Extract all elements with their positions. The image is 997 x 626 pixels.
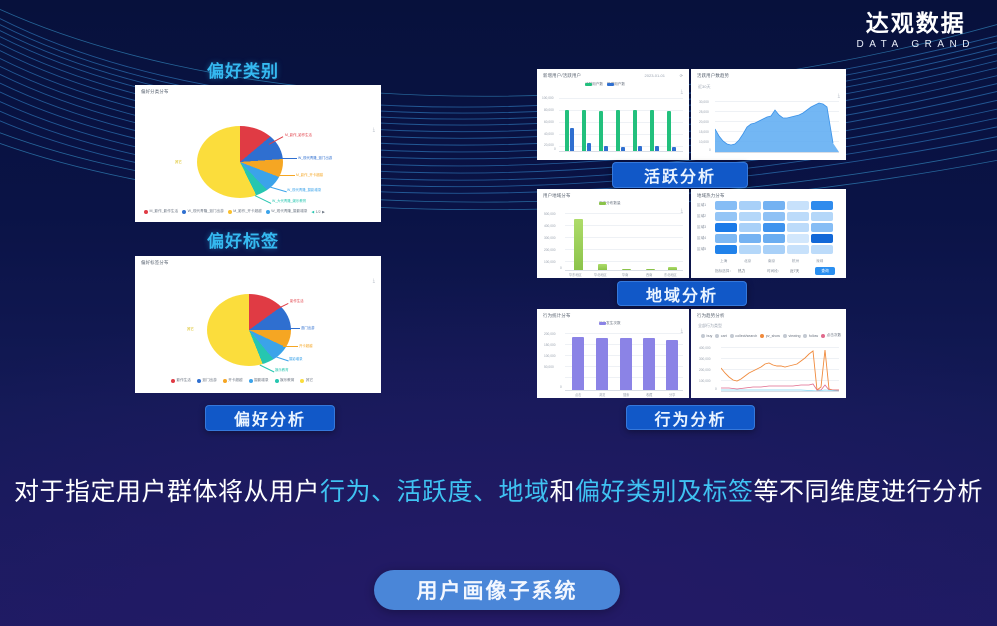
x-tick: 华东地区 [569,272,582,277]
panel-preference-category[interactable]: 偏好分类分布 ⤓ M_影作_影作生活 W_现代青隆_逛门出游 M_影作_开卡超越… [135,85,381,222]
legend-item: W_现代青隆_逛门出游 [182,209,224,214]
bottom-pill-user-profiling[interactable]: 用户画像子系统 [374,570,620,610]
legend-item: 逛门出游 [197,378,217,383]
bar [596,338,608,390]
panel-title: 偏好标签分布 [141,260,169,266]
y-tick: 200,000 [544,332,556,336]
legend-label: M_影作_开卡超越 [233,209,262,214]
pie-label-3: 摄影增录 [289,356,303,361]
heatmap-cell[interactable] [811,223,833,232]
y-tick: 200,000 [699,368,711,372]
panel-region-heatmap[interactable]: 地域热力分布 区域1 区域2 区域3 区域4 区域5 [691,189,846,278]
legend-swatch [144,210,148,214]
date-filter[interactable]: 2023-01-01 [645,73,665,78]
y-tick: 100,000 [542,96,554,100]
brand-name-cn: 达观数据 [856,10,975,36]
label-preference-category: 偏好类别 [207,57,279,82]
panel-title: 活跃用户数趋势 [697,73,729,79]
legend-swatch [249,379,253,383]
heatmap-cell[interactable] [811,245,833,254]
heatmap-filter-value-1[interactable]: 热力 [738,269,745,274]
legend-pager[interactable]: ◀1/2▶ [311,210,325,214]
legend-item: 影作生活 [171,378,191,383]
bar [650,110,654,151]
caption-part-3: 等不同维度进行分析 [754,478,984,506]
legend-label: pv_show [766,334,780,338]
heatmap-row-label: 区域4 [697,236,706,241]
panel-activity-bar[interactable]: 新增用户/活跃用户 2023-01-01 ⟳ 活跃用户数 新增用户数 ⤓ 100… [537,69,689,160]
legend-item: cart [715,334,727,338]
legend-item: buy [701,334,712,338]
legend-label: 开卡超越 [228,378,242,383]
y-tick: 40,000 [544,132,554,136]
heatmap-filter-value-2[interactable]: 近7天 [790,269,799,274]
bar [643,338,655,390]
y-tick: 300,000 [544,236,556,240]
legend-swatch [182,210,186,214]
bar [587,143,591,151]
caption-part-2: 和 [549,478,575,506]
type-filter[interactable]: 全部行为类型 [698,323,722,329]
legend-label: collect/search [735,334,757,338]
legend-label: W_现代青隆_摄影增录 [271,209,307,214]
legend-swatch [730,334,734,338]
leader-line [255,195,272,204]
y-tick: 20,000 [699,120,709,124]
legend-swatch [783,334,787,338]
y-tick: 80,000 [544,108,554,112]
leader-line [285,328,300,329]
legend-label: 影作生活 [177,378,191,383]
download-icon[interactable]: ⤓ [373,278,375,284]
legend-swatch [803,334,807,338]
chip-activity-analysis[interactable]: 活跃分析 [612,162,748,188]
pie-label-1: 逛门出游 [301,325,315,330]
legend-label: 点击次数 [827,333,841,338]
legend-label: 其它 [306,378,313,383]
x-tick: 分享 [669,392,675,397]
heatmap-cell[interactable] [811,201,833,210]
y-tick: 0 [709,148,711,152]
line-chart [721,343,839,391]
pie-label-1: W_现代青隆_逛门出游 [298,155,332,160]
legend-swatch [197,379,201,383]
y-tick: 100,000 [544,354,556,358]
heatmap-cell[interactable] [787,201,809,210]
y-tick: 100,000 [544,260,556,264]
leader-line [278,175,295,176]
chart-legend[interactable]: 活跃用户数 新增用户数 [585,82,625,87]
chart-legend[interactable]: 用户分布数量 [599,201,621,206]
legend-label: 娱乐教育 [280,378,294,383]
panel-title: 新增用户/活跃用户 [543,73,581,79]
pie-label-0: 影作生活 [290,298,304,303]
legend-item: 活跃用户数 [585,82,603,87]
x-tick: 点击 [575,392,581,397]
panel-preference-tag[interactable]: 偏好标签分布 ⤓ 影作生活 逛门出游 开卡超越 摄影增录 娱乐教育 其它 影作生… [135,256,381,393]
range-filter[interactable]: 近30天 [698,84,710,90]
legend-label: cart [721,334,727,338]
pie-label-4: W_大代青隆_娱乐教育 [272,198,306,203]
legend-label: W_现代青隆_逛门出游 [188,209,224,214]
heatmap-cell[interactable] [739,245,761,254]
y-tick: 400,000 [544,224,556,228]
query-button[interactable]: 查询 [815,267,835,275]
legend-label: M_影作_影作生活 [150,209,179,214]
chart-legend[interactable]: 影作生活 逛门出游 开卡超越 摄影增录 娱乐教育 其它 [171,378,313,383]
legend-swatch [585,83,592,86]
heatmap-grid[interactable] [715,201,833,254]
legend-swatch [300,379,304,383]
bar [565,110,569,151]
y-tick: 20,000 [544,143,554,147]
caption-part-1: 对于指定用户群体将从用户 [14,478,320,506]
pie-label-2: M_影作_开卡超越 [296,172,323,177]
legend-item: W_现代青隆_摄影增录 [266,209,308,214]
legend-label: viewing [788,334,800,338]
panel-activity-area[interactable]: 活跃用户数趋势 近30天 ⤓ 30,000 25,000 20,000 15,0… [691,69,846,160]
pie-label-5: 其它 [175,159,182,164]
x-tick: 东北地区 [664,272,677,277]
label-preference-tag: 偏好标签 [207,227,279,252]
legend-item: M_影作_影作生活 [144,209,178,214]
x-tick: 收藏 [646,392,652,397]
bar [570,128,574,151]
pie-label-5: 其它 [187,326,194,331]
y-tick: 15,000 [699,130,709,134]
y-tick: 0 [554,147,556,151]
legend-item: 开卡超越 [223,378,243,383]
legend-label: follow [809,334,818,338]
legend-item: follow [803,334,818,338]
panel-behavior-bar[interactable]: 行为统计分布 行为发生次数 ⤓ 200,000 150,000 100,000 … [537,309,689,398]
leader-line [260,365,275,373]
legend-item: 行为发生次数 [599,321,621,326]
heatmap-col-label: 北京 [744,259,751,264]
chip-behavior-analysis[interactable]: 行为分析 [626,405,755,430]
bar [582,110,586,151]
bar [666,340,678,390]
legend-swatch [760,334,764,338]
slide-canvas: 达观数据 DATA GRAND 偏好类别 偏好标签 偏好分类分布 ⤓ M_影作_… [0,0,997,626]
download-icon[interactable]: ⤓ [373,127,375,133]
heatmap-cell[interactable] [787,245,809,254]
heatmap-cell[interactable] [739,212,761,221]
y-tick: 30,000 [699,100,709,104]
bar [620,338,632,390]
heatmap-row-label: 区域3 [697,225,706,230]
pie-label-2: 开卡超越 [299,343,313,348]
pie-label-0: M_影作_影作生活 [285,132,312,137]
leader-line [283,346,298,347]
bar [572,337,584,390]
y-tick: 0 [715,387,717,391]
leader-line [270,187,287,193]
heatmap-cell[interactable] [787,234,809,243]
heatmap-cell[interactable] [787,212,809,221]
slide-caption: 对于指定用户群体将从用户行为、活跃度、地域和偏好类别及标签等不同维度进行分析 [0,474,997,510]
heatmap-cell[interactable] [811,234,833,243]
bar [667,111,671,151]
legend-item: M_影作_开卡超越 [228,209,262,214]
caption-highlight-2: 偏好类别及标签 [575,478,754,506]
heatmap-filter-label-1: 指标选择： [715,269,733,274]
y-tick: 500,000 [544,212,556,216]
panel-title: 偏好分类分布 [141,89,169,95]
heatmap-cell[interactable] [763,212,785,221]
heatmap-col-label: 深圳 [816,259,823,264]
x-tick: 华北地区 [594,272,607,277]
chart-legend[interactable]: 行为发生次数 [599,321,621,326]
heatmap-cell[interactable] [763,201,785,210]
heatmap-cell[interactable] [715,223,737,232]
pie-chart [207,294,291,366]
heatmap-filter-label-2: 时间段： [767,269,781,274]
y-tick: 60,000 [544,120,554,124]
heatmap-cell[interactable] [715,212,737,221]
caption-highlight-1: 行为、活跃度、地域 [320,478,550,506]
chart-legend[interactable]: buy cart collect/search pv_show viewing … [701,333,841,338]
pie-label-3: W_现代青隆_摄影增录 [287,187,321,192]
legend-label: 摄影增录 [254,378,268,383]
heatmap-cell[interactable] [763,223,785,232]
brand-logo: 达观数据 DATA GRAND [856,10,975,50]
panel-title: 行为统计分布 [543,313,571,319]
brand-name-en: DATA GRAND [856,39,975,50]
pie-label-4: 娱乐教育 [275,367,289,372]
legend-swatch [701,334,705,338]
leader-line [273,356,289,362]
heatmap-cell[interactable] [763,234,785,243]
legend-item: 摄影增录 [249,378,269,383]
heatmap-row-label: 区域5 [697,247,706,252]
heatmap-cell[interactable] [739,223,761,232]
legend-item: 用户分布数量 [599,201,621,206]
heatmap-cell[interactable] [739,234,761,243]
panel-title: 地域热力分布 [697,193,725,199]
x-tick: 华南 [622,272,628,277]
legend-label: buy [707,334,713,338]
x-tick: 搜索 [623,392,629,397]
chip-preference-analysis[interactable]: 偏好分析 [205,405,335,431]
refresh-icon[interactable]: ⟳ [680,73,683,78]
legend-swatch [171,379,175,383]
y-tick: 10,000 [699,140,709,144]
legend-swatch [266,210,270,214]
bar [633,110,637,151]
heatmap-cell[interactable] [715,234,737,243]
legend-item: 点击次数 [821,333,841,338]
legend-swatch [223,379,227,383]
y-tick: 100,000 [699,379,711,383]
y-tick: 50,000 [544,365,554,369]
y-tick: 400,000 [699,346,711,350]
y-tick: 200,000 [544,248,556,252]
heatmap-cell[interactable] [811,212,833,221]
legend-swatch [607,83,614,86]
chart-legend[interactable]: M_影作_影作生活 W_现代青隆_逛门出游 M_影作_开卡超越 W_现代青隆_摄… [144,209,325,214]
bar [599,111,603,151]
chip-region-analysis[interactable]: 地域分析 [617,281,747,306]
heatmap-cell[interactable] [715,245,737,254]
heatmap-col-label: 南京 [768,259,775,264]
panel-title: 用户地域分布 [543,193,571,199]
area-chart [715,97,839,152]
legend-item: collect/search [730,334,757,338]
panel-region-bar[interactable]: 用户地域分布 用户分布数量 ⤓ 500,000 400,000 300,000 … [537,189,689,278]
y-tick: 25,000 [699,110,709,114]
bar [574,219,583,270]
y-tick: 150,000 [544,343,556,347]
legend-swatch [821,334,825,338]
legend-swatch [599,202,606,205]
heatmap-col-label: 上海 [720,259,727,264]
bar [616,110,620,151]
legend-swatch [275,379,279,383]
y-tick: 0 [560,266,562,270]
leader-line [279,158,297,159]
legend-item: 新增用户数 [607,82,625,87]
legend-swatch [599,322,606,325]
legend-swatch [228,210,232,214]
legend-item: viewing [783,334,801,338]
legend-item: 其它 [300,378,313,383]
heatmap-cell[interactable] [739,201,761,210]
y-tick: 300,000 [699,357,711,361]
legend-label: 逛门出游 [202,378,216,383]
heatmap-cell[interactable] [763,245,785,254]
x-tick: 西南 [646,272,652,277]
panel-title: 行为趋势分析 [697,313,725,319]
legend-item: 娱乐教育 [275,378,295,383]
legend-swatch [715,334,719,338]
heatmap-row-label: 区域2 [697,214,706,219]
panel-behavior-line[interactable]: 行为趋势分析 全部行为类型 buy cart collect/search pv… [691,309,846,398]
y-tick: 0 [560,385,562,389]
heatmap-cell[interactable] [787,223,809,232]
download-icon[interactable]: ⤓ [681,89,683,95]
legend-item: pv_show [760,334,780,338]
heatmap-row-label: 区域1 [697,203,706,208]
heatmap-cell[interactable] [715,201,737,210]
legend-pager-text: 1/2 [316,210,321,214]
x-tick: 浏览 [599,392,605,397]
heatmap-col-label: 杭州 [792,259,799,264]
